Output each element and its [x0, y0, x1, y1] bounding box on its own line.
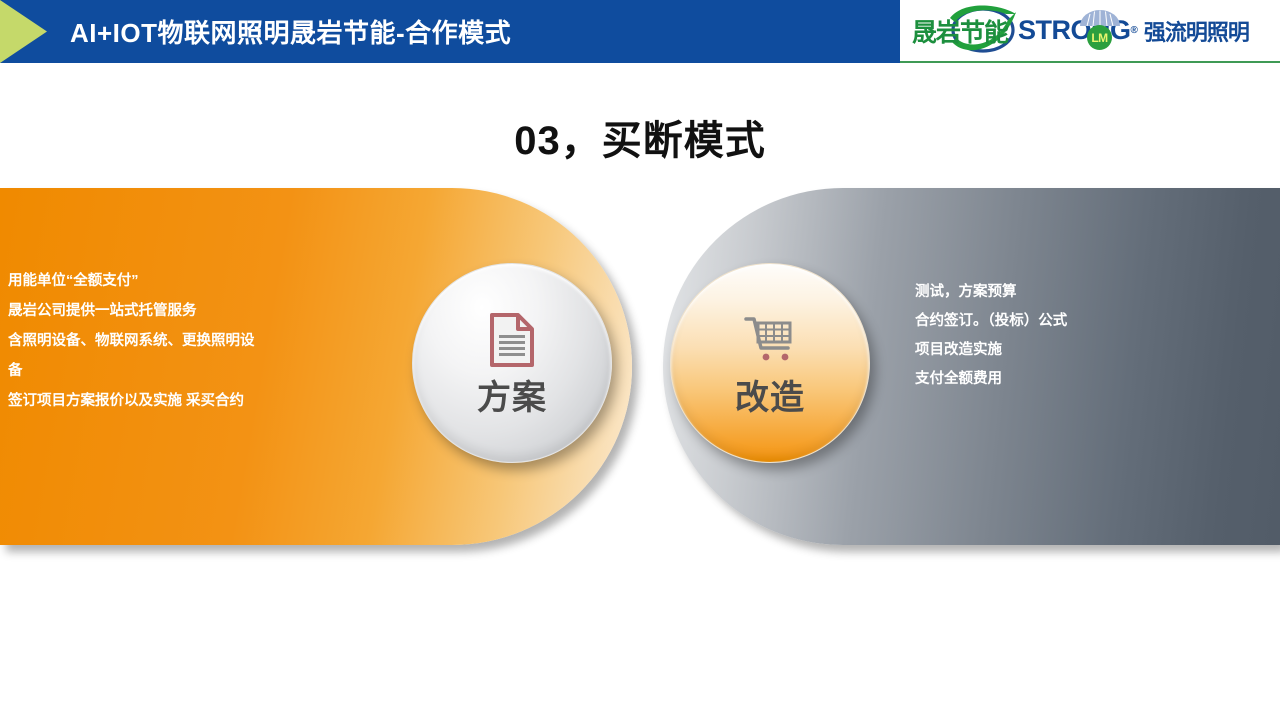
logo-strong-block: STRONG LM ® [1018, 15, 1138, 46]
right-panel-line-4: 支付全额费用 [915, 365, 1245, 394]
left-panel-line-5: 签订项目方案报价以及实施 采买合约 [8, 386, 353, 416]
slide-root: AI+IOT物联网照明晟岩节能-合作模式 晟岩节能 [0, 0, 1280, 720]
logo-lm-badge: LM [1087, 25, 1112, 50]
plan-circle-label: 方案 [477, 381, 547, 415]
left-panel-line-4: 备 [8, 356, 353, 386]
panels-container: 用能单位“全额支付” 晟岩公司提供一站式托管服务 含照明设备、物联网系统、更换照… [0, 188, 1280, 548]
left-panel-line-2: 晟岩公司提供一站式托管服务 [8, 296, 353, 326]
left-panel-line-1: 用能单位“全额支付” [8, 266, 353, 296]
right-panel-line-3: 项目改造实施 [915, 336, 1245, 365]
left-panel-text-block: 用能单位“全额支付” 晟岩公司提供一站式托管服务 含照明设备、物联网系统、更换照… [8, 266, 353, 416]
document-icon [489, 311, 535, 369]
header-title: AI+IOT物联网照明晟岩节能-合作模式 [70, 0, 511, 63]
right-panel-text-block: 测试，方案预算 合约签订。（投标）公式 项目改造实施 支付全额费用 [915, 278, 1245, 394]
left-panel-line-3: 含照明设备、物联网系统、更换照明设 [8, 326, 353, 356]
company-logo: 晟岩节能 STRONG LM ® 强流明照明 [900, 0, 1280, 63]
renovate-circle[interactable]: 改造 [670, 263, 870, 463]
right-panel-line-1: 测试，方案预算 [915, 278, 1245, 307]
right-panel-line-2: 合约签订。（投标）公式 [915, 307, 1245, 336]
renovate-circle-label: 改造 [735, 381, 805, 415]
page-title: 03，买断模式 [0, 108, 1280, 166]
header-bar: AI+IOT物联网照明晟岩节能-合作模式 晟岩节能 [0, 0, 1280, 63]
plan-circle[interactable]: 方案 [412, 263, 612, 463]
shopping-cart-icon [744, 311, 796, 369]
logo-brand-cn: 晟岩节能 [912, 13, 1008, 49]
logo-brand-cn2: 强流明照明 [1144, 15, 1249, 47]
logo-registered-mark: ® [1131, 25, 1138, 36]
